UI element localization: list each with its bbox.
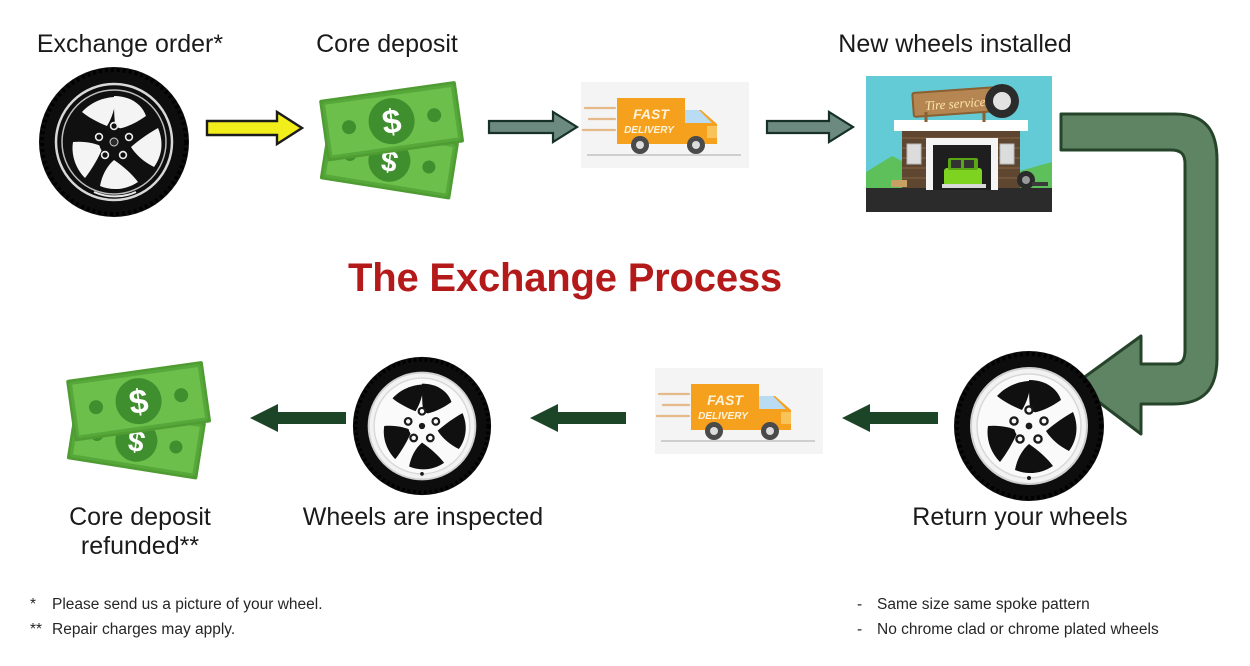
step-label-wheels-are-inspected: Wheels are inspected — [278, 503, 568, 532]
footnote-marker: ** — [30, 617, 52, 642]
truck-text-fast: FAST — [633, 106, 670, 122]
tire-service-shop-icon: Tire service — [866, 76, 1052, 212]
arrow-return-to-truck — [840, 402, 940, 434]
arrow-order-to-deposit — [205, 110, 305, 146]
step-label-new-wheels-installed: New wheels installed — [810, 30, 1100, 59]
arrow-truck-to-inspect — [528, 402, 628, 434]
wheel-silver-icon-inspected — [352, 356, 492, 496]
exchange-process-diagram: Exchange order* Core deposit New wheels … — [0, 0, 1250, 666]
delivery-truck-icon-top: FAST DELIVERY — [581, 82, 749, 168]
footnote-text: Same size same spoke pattern — [877, 596, 1090, 613]
footnote-left-2: **Repair charges may apply. — [30, 617, 323, 642]
footnote-right-2: -No chrome clad or chrome plated wheels — [857, 617, 1159, 642]
footnotes-left: *Please send us a picture of your wheel.… — [30, 592, 323, 642]
footnote-right-1: -Same size same spoke pattern — [857, 592, 1159, 617]
wheel-dark-icon — [38, 66, 190, 218]
step-label-core-deposit-refunded: Core deposit refunded** — [28, 503, 252, 561]
money-icon-bottom: $ $ — [52, 350, 228, 484]
footnote-marker: - — [857, 617, 877, 642]
step-label-core-deposit: Core deposit — [292, 30, 482, 59]
footnote-text: Please send us a picture of your wheel. — [52, 596, 323, 613]
step-label-line2: refunded** — [28, 532, 252, 561]
footnote-text: Repair charges may apply. — [52, 621, 235, 638]
footnotes-right: -Same size same spoke pattern -No chrome… — [857, 592, 1159, 642]
footnote-text: No chrome clad or chrome plated wheels — [877, 621, 1159, 638]
arrow-inspect-to-refund — [248, 402, 348, 434]
step-label-exchange-order: Exchange order* — [0, 30, 260, 59]
arrow-deposit-to-truck — [487, 110, 579, 144]
arrow-truck-to-shop — [765, 110, 855, 144]
page-title: The Exchange Process — [348, 256, 782, 301]
footnote-marker: - — [857, 592, 877, 617]
footnote-left-1: *Please send us a picture of your wheel. — [30, 592, 323, 617]
step-label-return-your-wheels: Return your wheels — [888, 503, 1152, 532]
wheel-silver-icon-return — [953, 350, 1105, 502]
truck-text-delivery: DELIVERY — [698, 411, 749, 422]
step-label-line1: Core deposit — [28, 503, 252, 532]
truck-text-delivery: DELIVERY — [624, 125, 675, 136]
footnote-marker: * — [30, 592, 52, 617]
delivery-truck-icon-bottom: FAST DELIVERY — [655, 368, 823, 454]
truck-text-fast: FAST — [707, 392, 744, 408]
money-icon-top: $ $ — [307, 72, 479, 204]
